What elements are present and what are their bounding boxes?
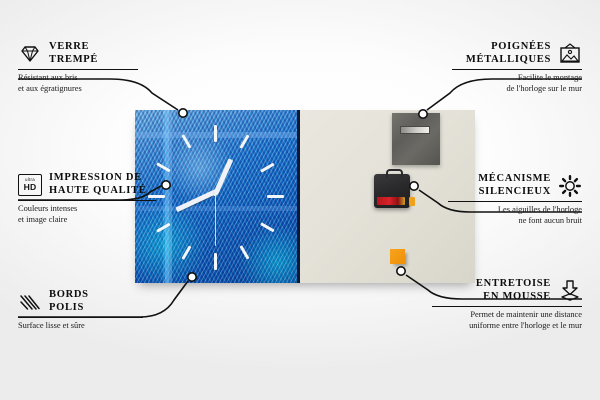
feature-bords-polis: BORDS POLIS Surface lisse et sûre xyxy=(18,289,143,332)
clock-mechanism xyxy=(374,174,410,208)
feature-description: Surface lisse et sûre xyxy=(18,321,143,331)
ultra-hd-icon: ultra HD xyxy=(18,174,42,196)
battery-terminal xyxy=(409,197,415,206)
feature-title: IMPRESSION DE HAUTE QUALITÉ xyxy=(49,172,147,197)
feature-description: Permet de maintenir une distance uniform… xyxy=(432,310,582,331)
hour-marker-12 xyxy=(214,125,217,142)
mechanism-hook xyxy=(386,169,403,178)
feature-divider xyxy=(18,317,143,318)
feature-header: MÉCANISME SILENCIEUX xyxy=(448,173,582,198)
battery xyxy=(377,197,405,205)
hour-marker-11 xyxy=(181,134,191,148)
hour-marker-3 xyxy=(267,195,284,198)
clock-face xyxy=(135,110,300,283)
feature-title: BORDS POLIS xyxy=(49,289,89,314)
metal-bracket xyxy=(392,113,440,165)
feature-poignees-metalliques: POIGNÉES MÉTALLIQUES Facilite le montage… xyxy=(452,41,582,94)
feature-title: POIGNÉES MÉTALLIQUES xyxy=(466,41,551,66)
feature-divider xyxy=(448,201,582,202)
hour-marker-8 xyxy=(156,223,170,233)
clock-minute-hand xyxy=(213,158,233,195)
feature-description: Facilite le montage de l'horloge sur le … xyxy=(452,73,582,94)
feature-description: Les aiguilles de l'horloge ne font aucun… xyxy=(448,205,582,226)
feature-entretoise-en-mousse: ENTRETOISE EN MOUSSE Permet de maintenir… xyxy=(432,278,582,331)
feature-description: Résistant aux bris et aux égratignures xyxy=(18,73,138,94)
feature-mecanisme-silencieux: MÉCANISME SILENCIEUX Les aiguilles de l'… xyxy=(448,173,582,226)
feature-impression-haute-qualite: ultra HD IMPRESSION DE HAUTE QUALITÉ Cou… xyxy=(18,172,156,225)
frame-hanger-icon xyxy=(558,43,582,65)
hour-marker-2 xyxy=(260,163,274,173)
feature-title: MÉCANISME SILENCIEUX xyxy=(478,173,551,198)
clock-second-hand xyxy=(215,194,217,246)
infographic-canvas: VERRE TREMPÉ Résistant aux bris et aux é… xyxy=(0,0,600,400)
feature-verre-trempe: VERRE TREMPÉ Résistant aux bris et aux é… xyxy=(18,41,138,94)
pattern-crossbar-horizontal xyxy=(135,132,297,138)
feature-header: ultra HD IMPRESSION DE HAUTE QUALITÉ xyxy=(18,172,156,197)
pattern-crossbar-vertical xyxy=(165,110,172,283)
gear-icon xyxy=(558,175,582,197)
feature-header: BORDS POLIS xyxy=(18,289,143,314)
foam-spacer-arrow-icon xyxy=(558,280,582,302)
feature-divider xyxy=(18,69,138,70)
hour-marker-6 xyxy=(214,253,217,270)
clock-hour-hand xyxy=(175,188,219,212)
feature-header: POIGNÉES MÉTALLIQUES xyxy=(452,41,582,66)
feature-divider xyxy=(18,200,156,201)
hour-marker-1 xyxy=(239,134,249,148)
hour-marker-4 xyxy=(260,223,274,233)
feature-divider xyxy=(432,306,582,307)
feature-description: Couleurs intenses et image claire xyxy=(18,204,156,225)
polished-edge-icon xyxy=(18,291,42,313)
hour-marker-7 xyxy=(181,245,191,259)
hour-marker-5 xyxy=(239,245,249,259)
hour-marker-10 xyxy=(156,163,170,173)
feature-title: ENTRETOISE EN MOUSSE xyxy=(476,278,551,303)
feature-title: VERRE TREMPÉ xyxy=(49,41,98,66)
ultra-hd-badge: ultra HD xyxy=(18,174,42,196)
pattern-crossbar-horizontal-2 xyxy=(135,206,297,211)
diamond-icon xyxy=(18,43,42,65)
feature-divider xyxy=(452,69,582,70)
foam-spacer xyxy=(390,249,405,264)
bracket-slot xyxy=(400,126,430,134)
clock-center-pin xyxy=(213,192,217,196)
feature-header: ENTRETOISE EN MOUSSE xyxy=(432,278,582,303)
ultra-hd-bottom-label: HD xyxy=(24,183,37,192)
feature-header: VERRE TREMPÉ xyxy=(18,41,138,66)
